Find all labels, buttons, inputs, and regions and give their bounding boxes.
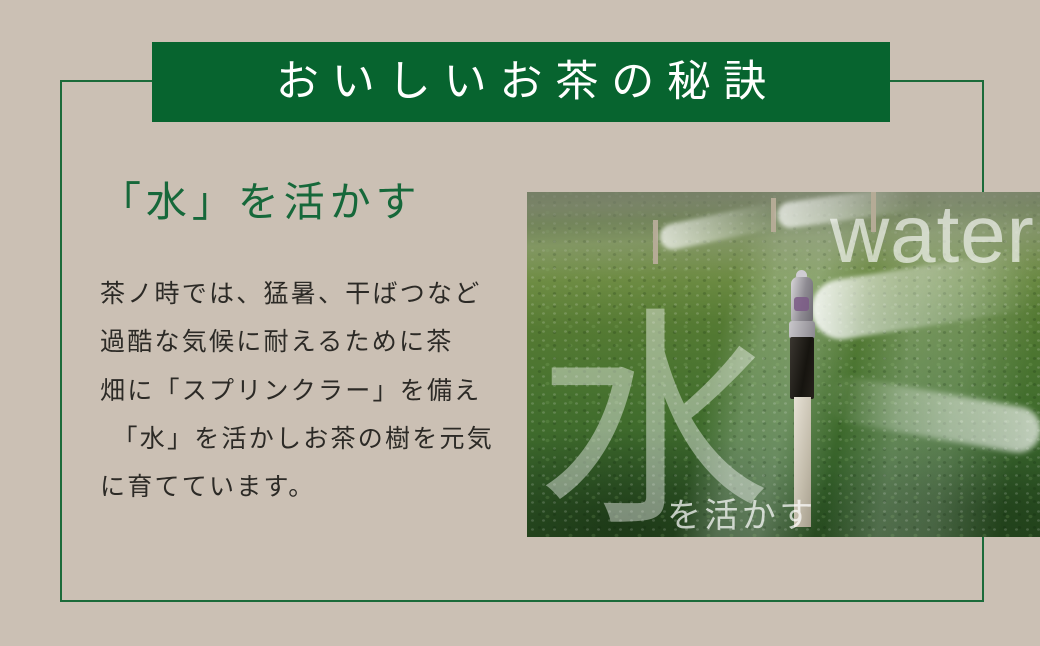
article-body: 茶ノ時では、猛暑、干ばつなど 過酷な気候に耐えるために茶 畑に「スプリンクラー」… xyxy=(100,271,510,512)
photo-overlay-caption: を活かす xyxy=(667,488,817,537)
body-line: 茶ノ時では、猛暑、干ばつなど xyxy=(100,271,510,319)
sprinkler-nozzle xyxy=(794,297,809,311)
header-banner: おいしいお茶の秘訣 xyxy=(152,42,890,122)
section-subtitle: 「水」を活かす xyxy=(100,178,510,227)
body-line: 畑に「スプリンクラー」を備え xyxy=(100,368,510,416)
body-line: 過酷な気候に耐えるために茶 xyxy=(100,319,510,367)
photo-overlay-word: water xyxy=(830,194,1035,276)
far-sprinkler-riser xyxy=(771,198,776,232)
tea-field-photo: 水 を活かす water xyxy=(527,192,1040,537)
page-root: おいしいお茶の秘訣 水 を活かす water 「水」を活かす 茶ノ時では、猛暑、… xyxy=(0,0,1040,646)
page-title: おいしいお茶の秘訣 xyxy=(263,61,779,104)
body-line: 「水」を活かしお茶の樹を元気 xyxy=(100,416,510,464)
far-sprinkler-riser xyxy=(653,220,658,264)
sprinkler-valve xyxy=(790,337,814,399)
body-line: に育てています。 xyxy=(100,464,510,512)
article-text-column: 「水」を活かす 茶ノ時では、猛暑、干ばつなど 過酷な気候に耐えるために茶 畑に「… xyxy=(100,178,510,512)
